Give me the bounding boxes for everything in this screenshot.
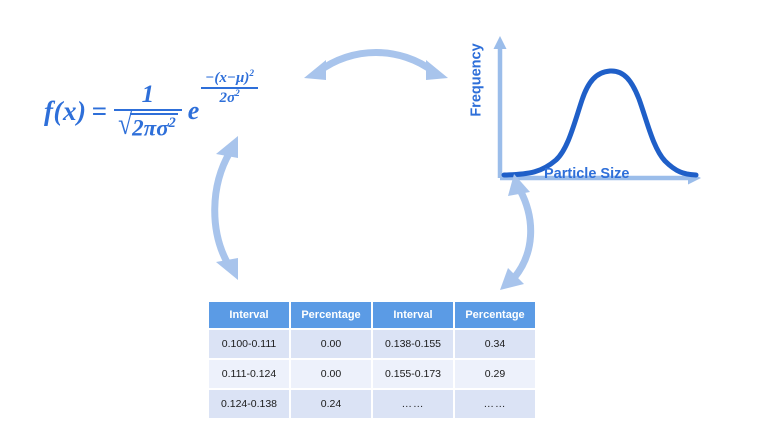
exponent-numerator: −(x−μ)2 [201,70,258,87]
formula-exponent-fraction: −(x−μ)2 2σ2 [201,70,258,106]
frequency-table-container: Interval Percentage Interval Percentage … [207,300,537,420]
cell-interval: 0.155-0.173 [373,360,453,388]
table-row: 0.124-0.138 0.24 …… …… [209,390,535,418]
column-header-percentage-1: Percentage [291,302,371,328]
column-header-percentage-2: Percentage [455,302,535,328]
arrow-right-head-top [508,174,530,196]
table-row: 0.100-0.111 0.00 0.138-0.155 0.34 [209,330,535,358]
formula-fraction-denominator: √ 2πσ2 [114,111,182,141]
normal-distribution-curve [504,71,696,175]
arrow-top-head-left [304,60,326,80]
cell-percentage-ellipsis: …… [455,390,535,418]
arrow-formula-to-table [198,128,254,288]
arrow-left-shaft [215,152,230,264]
exponent-denominator-base: 2σ [220,90,236,106]
square-root-expression: √ 2πσ2 [118,113,178,141]
cell-percentage: 0.34 [455,330,535,358]
table-header-row: Interval Percentage Interval Percentage [209,302,535,328]
exponent-denominator-power: 2 [235,89,240,99]
formula-main-fraction: 1 √ 2πσ2 [114,82,182,141]
arrow-formula-to-chart [296,38,456,94]
formula-lhs: f(x) [44,96,86,127]
cell-interval: 0.100-0.111 [209,330,289,358]
interval-percentage-table: Interval Percentage Interval Percentage … [207,300,537,420]
cell-interval-ellipsis: …… [373,390,453,418]
arrow-top-shaft [318,53,434,73]
radical-icon: √ [118,109,132,142]
exponent-denominator: 2σ2 [216,89,244,106]
cell-percentage: 0.29 [455,360,535,388]
y-axis-arrowhead [494,36,507,49]
formula-fraction-numerator: 1 [136,82,161,109]
radicand: 2πσ2 [130,113,178,141]
radicand-base: 2πσ [132,116,168,141]
cell-interval: 0.111-0.124 [209,360,289,388]
column-header-interval-1: Interval [209,302,289,328]
arrow-left-head-bottom [216,258,238,280]
arrow-top-head-right [426,60,448,80]
cell-interval: 0.138-0.155 [373,330,453,358]
table-row: 0.111-0.124 0.00 0.155-0.173 0.29 [209,360,535,388]
arrow-left-head-top [216,136,238,158]
formula-euler-base: e [188,96,200,126]
column-header-interval-2: Interval [373,302,453,328]
cell-percentage: 0.00 [291,360,371,388]
radicand-exponent: 2 [169,115,176,131]
arrow-right-shaft [514,190,531,278]
y-axis-label: Frequency [469,43,485,116]
exponent-numerator-base: −(x−μ) [205,70,249,86]
cell-interval: 0.124-0.138 [209,390,289,418]
arrow-chart-to-table [492,168,548,296]
x-axis-label: Particle Size [544,166,629,182]
cell-percentage: 0.00 [291,330,371,358]
exponent-numerator-power: 2 [249,69,254,79]
formula-equals-sign: = [91,96,106,127]
cell-percentage: 0.24 [291,390,371,418]
